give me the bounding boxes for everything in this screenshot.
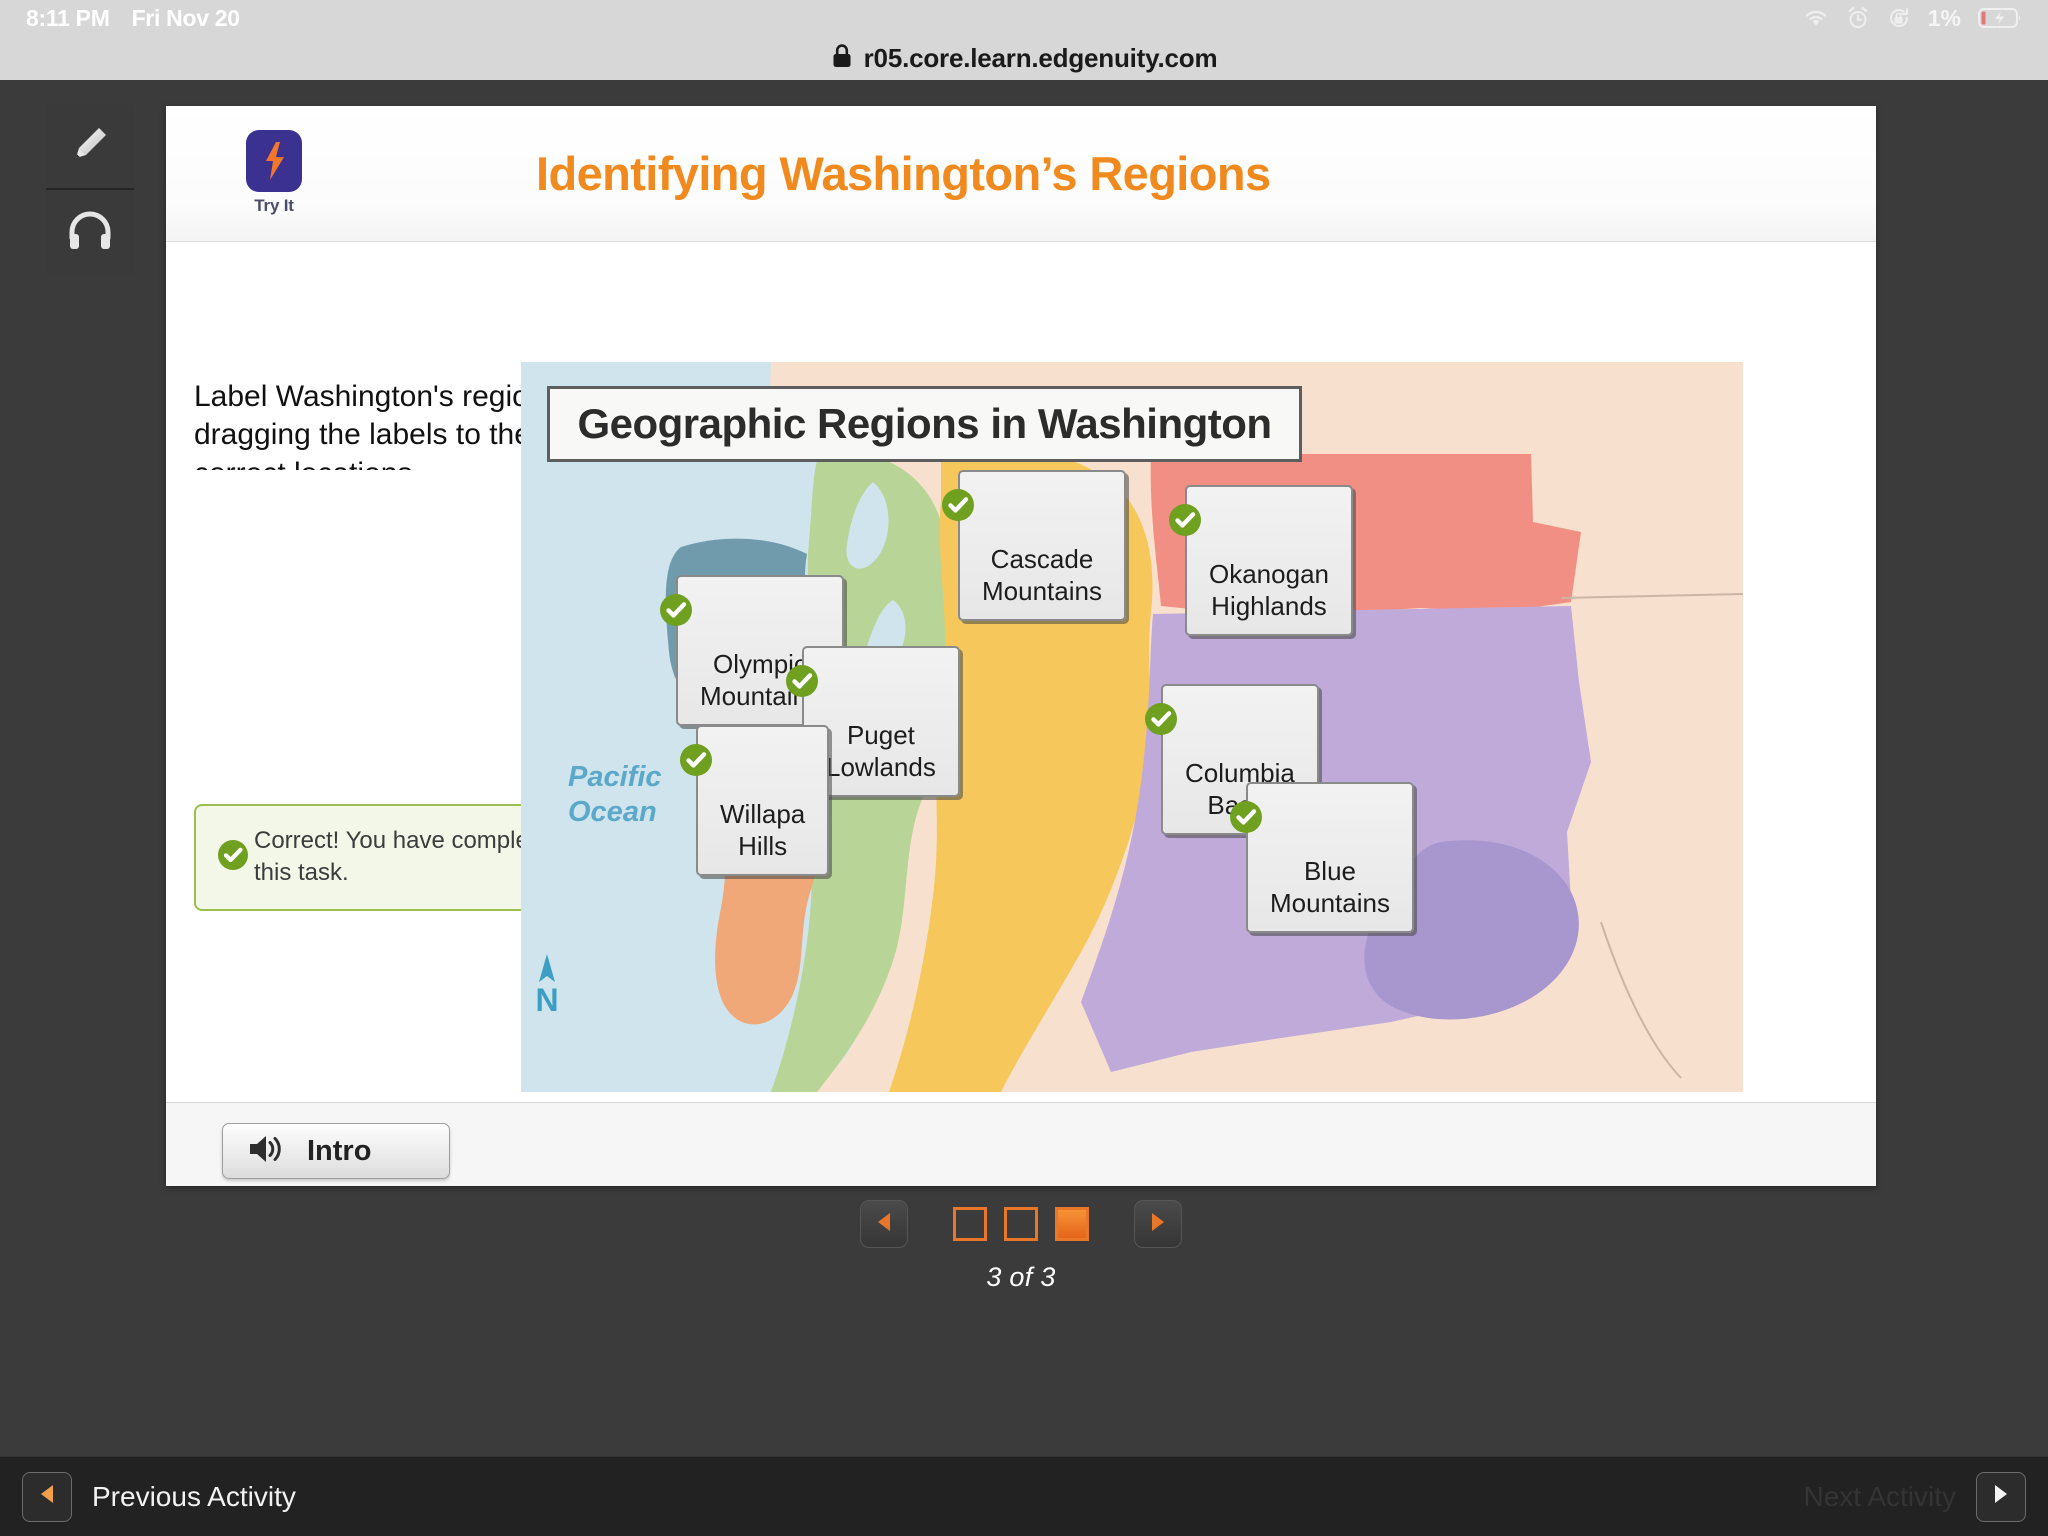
pencil-icon [66,120,114,173]
triangle-left-icon [36,1482,58,1511]
tool-rail [46,105,134,275]
status-bar-left: 8:11 PM Fri Nov 20 [26,5,240,32]
pagination-dot-2[interactable] [1004,1207,1038,1241]
north-arrow-icon: N [534,952,560,1019]
lesson-body: Label Washington's regions by dragging t… [166,242,1876,1102]
pagination: 3 of 3 [166,1200,1876,1293]
status-bar-right: 1% [1803,5,2022,32]
url-text: r05.core.learn.edgenuity.com [864,43,1218,74]
lesson-card: Try It Identifying Washington’s Regions … [166,106,1876,1186]
speaker-icon [247,1133,285,1170]
check-circle-icon [1228,767,1264,842]
map-title: Geographic Regions in Washington [547,386,1302,462]
activity-bar: Previous Activity Next Activity [0,1456,2048,1536]
map-label-blue-mountains[interactable]: Blue Mountains [1246,782,1414,933]
next-activity-label: Next Activity [1804,1481,1956,1513]
check-circle-icon [1167,470,1203,545]
alarm-clock-icon [1846,6,1870,30]
pencil-tool[interactable] [46,105,134,190]
lesson-header: Try It Identifying Washington’s Regions [166,106,1876,242]
next-activity-button[interactable] [1976,1472,2026,1522]
try-it-logo: Try It [234,130,314,216]
check-circle-icon [678,710,714,785]
intro-audio-button[interactable]: Intro [222,1123,450,1179]
try-it-label: Try It [254,196,293,216]
previous-activity-group[interactable]: Previous Activity [22,1472,296,1522]
check-circle-icon [940,455,976,530]
lightning-bolt-icon [246,130,302,192]
previous-activity-label: Previous Activity [92,1481,296,1513]
map-label-text: Blue Mountains [1270,856,1390,918]
page-title: Identifying Washington’s Regions [536,146,1271,201]
check-circle-icon [658,560,694,635]
status-date: Fri Nov 20 [132,5,240,32]
map-label-text: Cascade Mountains [982,544,1102,606]
map-label-text: Okanogan Highlands [1209,559,1329,621]
browser-address-bar[interactable]: r05.core.learn.edgenuity.com [0,36,2048,80]
check-circle-icon [216,838,250,877]
ios-status-bar: 8:11 PM Fri Nov 20 1% [0,0,2048,36]
wifi-icon [1803,8,1829,28]
status-time: 8:11 PM [26,5,110,32]
headphones-tool[interactable] [46,190,134,275]
map-label-okanogan-highlands[interactable]: Okanogan Highlands [1185,485,1353,636]
pagination-prev-button[interactable] [860,1200,908,1248]
intro-button-label: Intro [307,1135,371,1168]
check-circle-icon [784,631,820,706]
battery-percent: 1% [1928,5,1961,32]
triangle-right-icon [1148,1211,1168,1238]
map-label-text: Willapa Hills [720,799,805,861]
map-title-text: Geographic Regions in Washington [577,400,1271,448]
headphones-icon [65,208,115,257]
map-label-willapa-hills[interactable]: Willapa Hills [696,725,829,876]
rotation-lock-icon [1887,6,1911,30]
lock-icon [831,43,853,74]
pagination-dot-3[interactable] [1055,1207,1089,1241]
next-activity-group: Next Activity [1804,1472,2026,1522]
check-circle-icon [1143,669,1179,744]
triangle-right-icon [1990,1482,2012,1511]
map-label-cascade-mountains[interactable]: Cascade Mountains [958,470,1126,621]
pagination-row [860,1200,1182,1248]
pagination-count: 3 of 3 [986,1262,1055,1293]
map-label-text: Puget Lowlands [826,720,936,782]
battery-charging-icon [1978,7,2022,29]
pagination-next-button[interactable] [1134,1200,1182,1248]
previous-activity-button[interactable] [22,1472,72,1522]
pacific-ocean-label: Pacific Ocean [568,760,662,831]
pagination-dot-1[interactable] [953,1207,987,1241]
lesson-footer: Intro [166,1102,1876,1186]
compass-label: N [535,982,558,1019]
triangle-left-icon [874,1211,894,1238]
washington-regions-map[interactable]: Geographic Regions in Washington Pacific… [521,362,1743,1092]
